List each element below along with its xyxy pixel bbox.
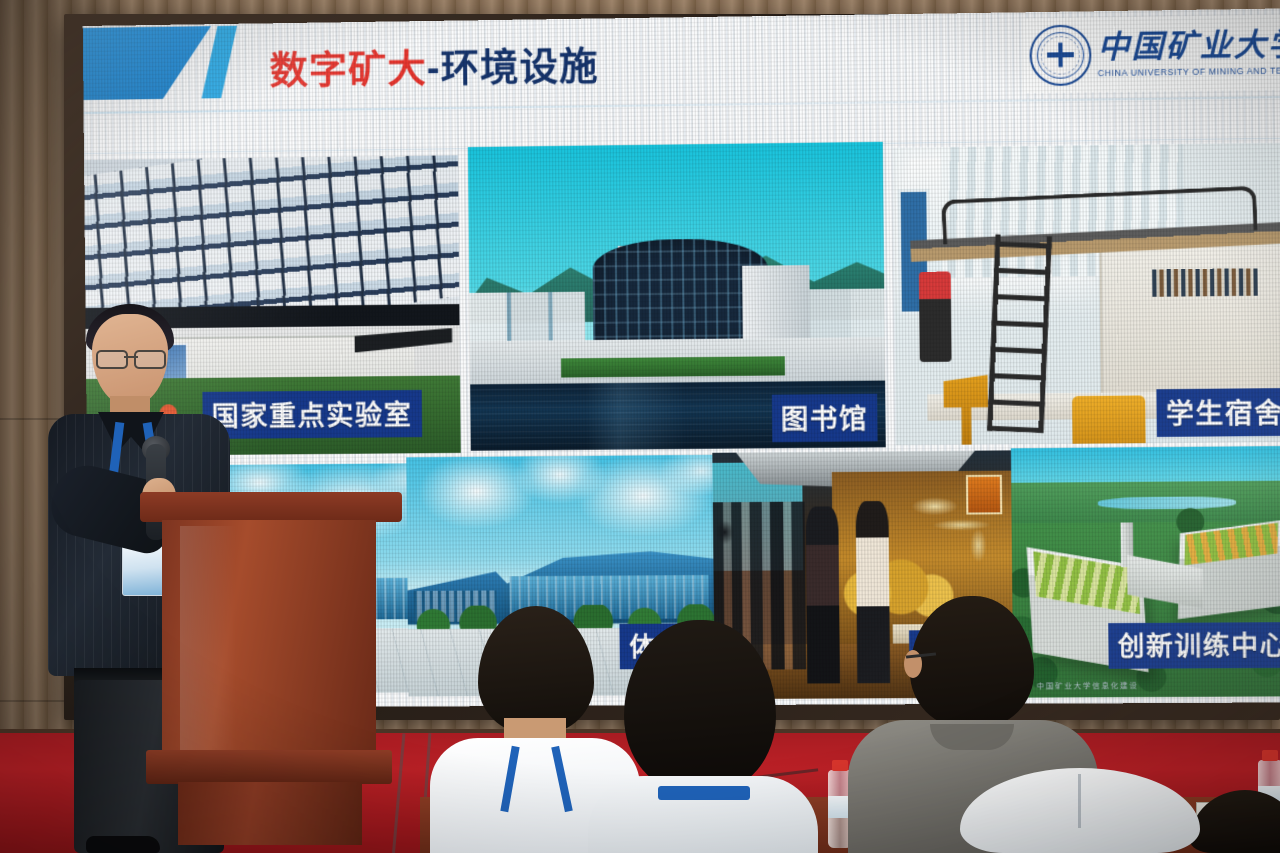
attendee-back-right	[1190, 790, 1280, 853]
cap-seam	[1078, 774, 1081, 828]
glasses-icon	[96, 350, 166, 366]
attendee-lanyard	[658, 786, 750, 800]
attendee-dark-hair	[588, 620, 818, 853]
lectern-top	[140, 492, 402, 522]
header-rule	[84, 96, 1280, 114]
attendee-head	[478, 606, 594, 734]
bottle-cap	[1262, 750, 1278, 761]
seal-ring	[1041, 36, 1080, 75]
logo-chinese-name: 中国矿业大学	[1097, 28, 1280, 63]
attendee-head	[910, 596, 1034, 728]
bottle-cap	[832, 760, 848, 771]
university-logo: 中国矿业大学 CHINA UNIVERSITY OF MINING AND TE…	[1021, 14, 1280, 93]
photo-library: 图书馆	[468, 142, 886, 451]
slide-title-blue: -环境设施	[427, 46, 599, 91]
lectern-base	[146, 750, 392, 784]
lectern-plinth	[178, 782, 362, 845]
photo-caption: 学生宿舍	[1156, 388, 1280, 437]
photo-caption: 创新训练中心	[1108, 622, 1280, 669]
attendee-head	[1190, 790, 1280, 853]
attendee-white-cap	[960, 768, 1200, 853]
logo-english-name: CHINA UNIVERSITY OF MINING AND TECHNOLOG…	[1098, 66, 1280, 78]
attendee-collar	[930, 724, 1014, 750]
header-blue-shape	[83, 26, 212, 100]
logo-text: 中国矿业大学 CHINA UNIVERSITY OF MINING AND TE…	[1097, 28, 1280, 78]
header-blue-stripe	[201, 26, 238, 99]
lectern-highlight	[180, 526, 236, 750]
slide-title: 数字矿大-环境设施	[269, 35, 598, 95]
university-seal-icon	[1029, 24, 1091, 86]
lectern	[140, 492, 402, 853]
photo-student-dormitory: 学生宿舍	[893, 143, 1280, 446]
presentation-scene: 数字矿大-环境设施 中国矿业大学 CHINA UNIVERSITY OF MIN…	[0, 0, 1280, 853]
photo-caption: 图书馆	[771, 394, 877, 442]
slide-header: 数字矿大-环境设施 中国矿业大学 CHINA UNIVERSITY OF MIN…	[83, 8, 1280, 130]
glasses-bridge	[124, 356, 138, 358]
slide-title-red: 数字矿大	[269, 48, 427, 92]
attendee-head	[624, 620, 776, 792]
